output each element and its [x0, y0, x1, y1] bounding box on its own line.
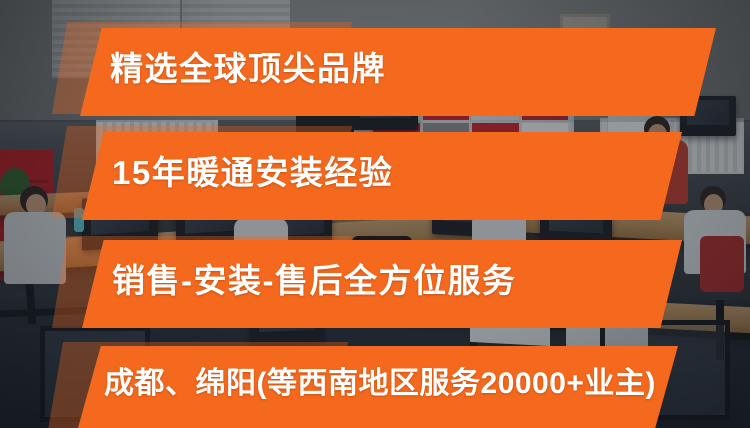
- banner-2-text: 15年暖通安装经验: [112, 146, 393, 194]
- banner-overlay-layer: 精选全球顶尖品牌 15年暖通安装经验 销售-安装-售后全方位服务 成都、绵阳(等…: [0, 0, 750, 428]
- banner-1-text: 精选全球顶尖品牌: [110, 42, 386, 90]
- banner-3-text: 销售-安装-售后全方位服务: [112, 254, 516, 302]
- banner-4-text: 成都、绵阳(等西南地区服务20000+业主): [104, 358, 656, 402]
- banner-image-stage: 精选全球顶尖品牌 15年暖通安装经验 销售-安装-售后全方位服务 成都、绵阳(等…: [0, 0, 750, 428]
